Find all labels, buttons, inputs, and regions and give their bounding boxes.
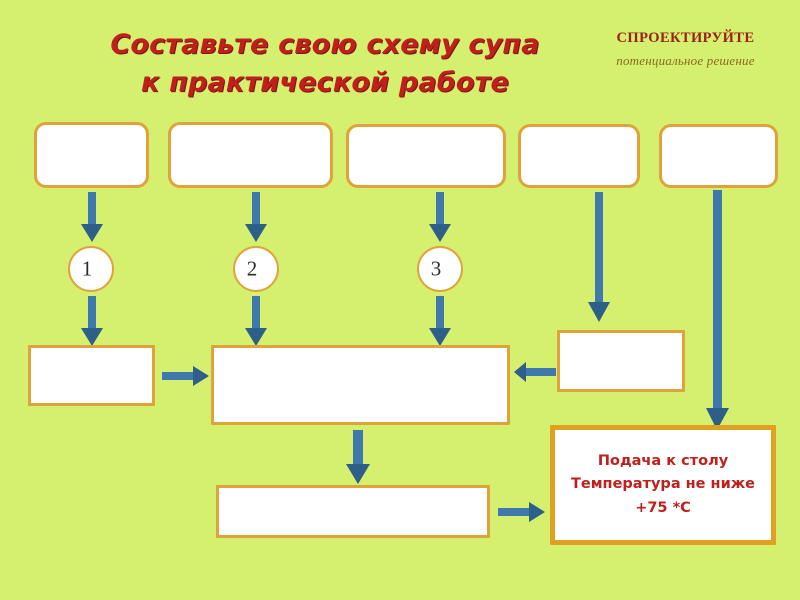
top-box-5[interactable] [659,124,778,188]
arrow-middle-right-to-center [514,360,556,384]
page-title-line2: к практической работе [95,64,555,102]
middle-box-right[interactable] [557,330,685,392]
serving-box[interactable]: Подача к столу Температура не ниже +75 *… [550,425,776,545]
arrow-circle3-to-middle-center [427,296,453,348]
step-circle-2-number: 2 [235,257,269,282]
serving-box-line2: Температура не ниже [555,473,771,496]
top-box-2[interactable] [168,122,333,188]
serving-box-text: Подача к столу Температура не ниже +75 *… [555,450,771,520]
middle-box-left[interactable] [28,345,155,406]
arrow-bottom-to-serving-box [498,500,546,524]
arrow-circle1-to-middle-left [79,296,105,348]
top-box-4[interactable] [518,124,640,188]
arrow-top2-to-circle2 [243,192,269,244]
arrow-top5-to-serving-box [704,190,730,432]
serving-box-line3: +75 *С [555,497,771,520]
middle-box-center[interactable] [211,345,510,425]
corner-note-heading: СПРОЕКТИРУЙТЕ [578,30,793,47]
top-box-1[interactable] [34,122,149,188]
step-circle-1-number: 1 [70,257,104,282]
arrow-middle-center-to-bottom [344,430,372,486]
slide-canvas: Составьте свою схему супа к практической… [0,0,800,600]
arrow-top1-to-circle1 [79,192,105,244]
corner-note-subheading: потенциальное решение [578,53,793,69]
step-circle-3[interactable]: 3 [417,246,463,292]
arrow-top4-to-middle-right [586,192,612,324]
bottom-box-center[interactable] [216,485,490,538]
arrow-circle2-to-middle-center [243,296,269,348]
step-circle-2[interactable]: 2 [233,246,279,292]
page-title-line1: Составьте свою схему супа [110,29,539,60]
arrow-top3-to-circle3 [427,192,453,244]
serving-box-line1: Подача к столу [555,450,771,473]
step-circle-3-number: 3 [419,257,453,282]
page-title: Составьте свою схему супа к практической… [95,26,555,103]
arrow-middle-left-to-center [162,364,210,388]
top-box-3[interactable] [346,124,506,188]
step-circle-1[interactable]: 1 [68,246,114,292]
